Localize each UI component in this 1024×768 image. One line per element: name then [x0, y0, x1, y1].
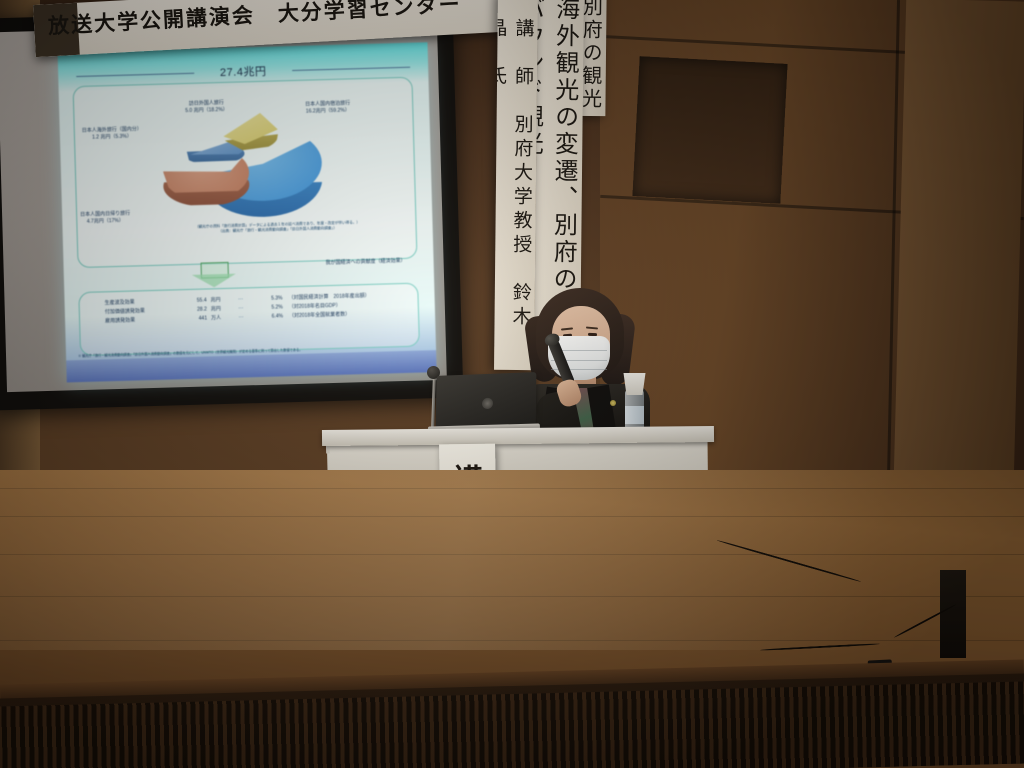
laptop-logo-icon [482, 398, 493, 409]
floor-reflection [0, 470, 1024, 650]
bottle-label [625, 406, 644, 424]
eyebrow-right [586, 326, 598, 329]
slide-mid-caption: 我が国経済への貢献度（経済効果） [325, 257, 405, 266]
eyebrow-left [561, 327, 573, 330]
down-arrow-icon [192, 262, 237, 289]
pie-label-domestic-daytrip: 日本人国内日帰り旅行4.7兆円（17%） [80, 211, 130, 226]
wall-recess [632, 56, 787, 204]
lapel-pin [610, 400, 616, 406]
event-banner-text: 放送大学公開講演会 大分学習センター [47, 0, 462, 40]
pie-label-overseas: 日本人海外旅行（国内分）1.2 兆円（5.3%） [82, 126, 142, 141]
screen-surface: 27.4兆円 日本人海外旅行（国内分）1.2 兆円（5.3%） 訪日外国人旅行5… [0, 20, 447, 392]
loudspeaker [940, 570, 966, 658]
presentation-slide: 27.4兆円 日本人海外旅行（国内分）1.2 兆円（5.3%） 訪日外国人旅行5… [58, 42, 437, 382]
projection-screen: 27.4兆円 日本人海外旅行（国内分）1.2 兆円（5.3%） 訪日外国人旅行5… [0, 6, 463, 411]
photo-scene: 27.4兆円 日本人海外旅行（国内分）1.2 兆円（5.3%） 訪日外国人旅行5… [0, 0, 1024, 768]
apron-vent-slats [0, 681, 1024, 768]
wall-column [894, 0, 1024, 481]
